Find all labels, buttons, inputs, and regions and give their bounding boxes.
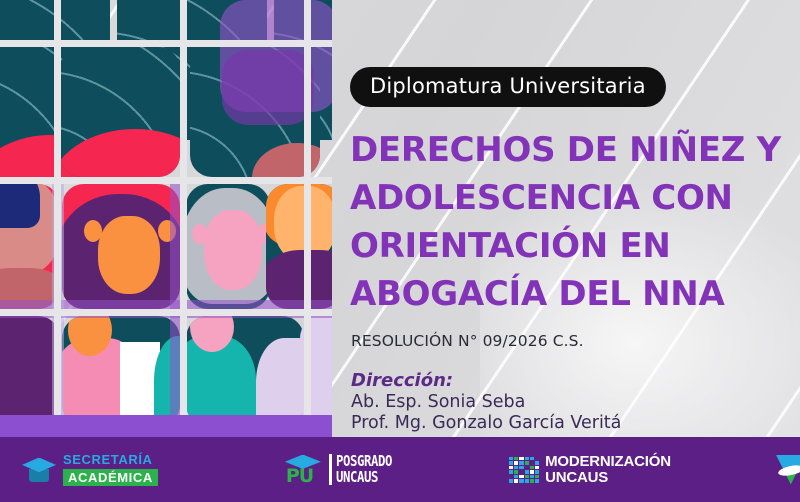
logo-secretaria-academica: SECRETARÍA ACADÉMICA [22,437,158,502]
modernizacion-line-2: UNCAUS [545,470,671,486]
illus-tile-person [62,184,180,309]
direction-label: Dirección: [351,370,453,391]
page-title: DERECHOS DE NIÑEZ Y ADOLESCENCIA CON ORI… [350,126,790,318]
illus-tile-person [266,184,332,309]
footer-logo-bar: SECRETARÍA ACADÉMICA PU POSGRADO UNCAUS [0,437,800,502]
illus-tile [60,47,180,177]
secretaria-line-2: ACADÉMICA [63,469,158,486]
director-name-1: Ab. Esp. Sonia Seba [351,392,525,412]
title-line-1: DERECHOS DE NIÑEZ Y [350,126,790,174]
modernizacion-line-1: MODERNIZACIÓN [545,454,671,470]
program-type-badge: Diplomatura Universitaria [350,67,666,107]
poster-canvas: Diplomatura Universitaria DERECHOS DE NI… [0,0,800,502]
logo-posgrado-uncaus: PU POSGRADO UNCAUS [283,437,404,502]
illus-tile-person [0,184,60,309]
graduation-cap-icon [22,457,56,483]
triangle-shield-icon [776,455,800,485]
people-illustration [0,0,332,437]
illustration-bottom-bar [0,415,332,437]
posgrado-line-2: UNCAUS [336,470,392,485]
graduation-cap-icon: PU [283,455,323,485]
title-line-2: ADOLESCENCIA CON [350,174,790,222]
illus-tile-person [186,184,270,309]
illus-tile-body [0,316,60,426]
title-line-3: ORIENTACIÓN EN [350,222,790,270]
resolution-text: RESOLUCIÓN N° 09/2026 C.S. [351,332,584,350]
logo-uncaus: UNCAUS UNIVERSIDAD NACIONAL DEL CHACO AU… [776,437,800,502]
illus-tile-body [186,316,304,426]
title-line-4: ABOGACÍA DEL NNA [350,270,790,318]
pu-monogram: PU [286,465,313,487]
illus-tile-body [62,316,180,426]
pixel-grid-icon [509,457,539,483]
director-name-2: Prof. Mg. Gonzalo García Veritá [351,413,621,433]
secretaria-line-1: SECRETARÍA [63,453,158,466]
logo-modernizacion-uncaus: MODERNIZACIÓN UNCAUS [509,437,671,502]
overlay-square [222,50,314,125]
